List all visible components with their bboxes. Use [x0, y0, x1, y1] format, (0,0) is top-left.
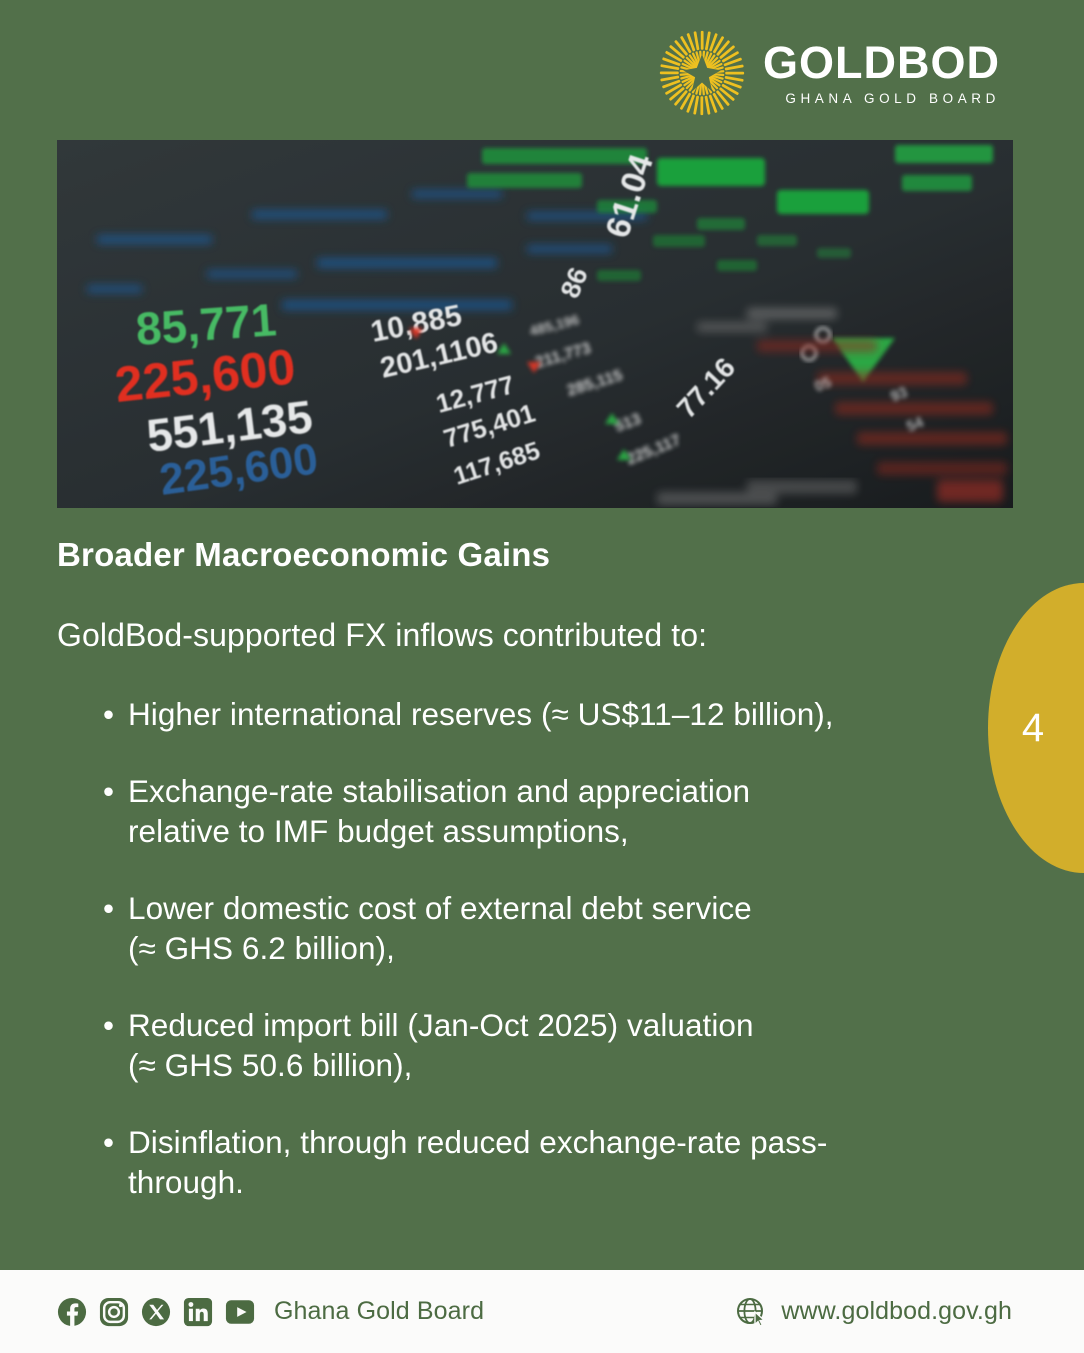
list-item-line: (≈ GHS 6.2 billion), [128, 928, 995, 968]
goldbod-logo: GOLDBOD GHANA GOLD BOARD [659, 30, 1000, 116]
footer-brand-handle: Ghana Gold Board [274, 1297, 484, 1326]
page-number: 4 [1022, 708, 1044, 748]
footer: Ghana Gold Board www.goldbod.gov.gh [0, 1270, 1084, 1353]
list-item-line: Exchange-rate stabilisation and apprecia… [128, 771, 995, 811]
list-item-line: (≈ GHS 50.6 billion), [128, 1045, 995, 1085]
linkedin-icon[interactable] [183, 1297, 213, 1327]
logo-subtitle: GHANA GOLD BOARD [763, 92, 1000, 106]
list-item: • Lower domestic cost of external debt s… [100, 888, 995, 968]
bullet-marker: • [103, 1122, 114, 1162]
list-item: • Disinflation, through reduced exchange… [100, 1122, 995, 1202]
instagram-icon[interactable] [99, 1297, 129, 1327]
list-item-line: through. [128, 1162, 995, 1202]
list-item: • Reduced import bill (Jan-Oct 2025) val… [100, 1005, 995, 1085]
list-item: • Higher international reserves (≈ US$11… [100, 694, 995, 734]
page-title: Broader Macroeconomic Gains [57, 536, 550, 574]
bullet-marker: • [103, 694, 114, 734]
poster-card: GOLDBOD GHANA GOLD BOARD [0, 0, 1084, 1353]
globe-cursor-icon [735, 1296, 767, 1328]
intro-text: GoldBod-supported FX inflows contributed… [57, 617, 707, 654]
list-item-line: Disinflation, through reduced exchange-r… [128, 1122, 995, 1162]
bullet-marker: • [103, 888, 114, 928]
sunburst-icon [659, 30, 745, 116]
bullet-marker: • [103, 1005, 114, 1045]
page-number-badge: 4 [988, 583, 1084, 873]
list-item-line: Lower domestic cost of external debt ser… [128, 888, 995, 928]
hero-ticker-image: 85,771 225,600 551,135 225,600 61.04 10,… [57, 140, 1013, 508]
list-item: • Exchange-rate stabilisation and apprec… [100, 771, 995, 851]
bullet-marker: • [103, 771, 114, 811]
footer-website-group[interactable]: www.goldbod.gov.gh [735, 1296, 1012, 1328]
list-item-line: Higher international reserves (≈ US$11–1… [128, 694, 995, 734]
facebook-icon[interactable] [57, 1297, 87, 1327]
logo-wordmark: GOLDBOD [763, 41, 1000, 85]
header: GOLDBOD GHANA GOLD BOARD [0, 0, 1084, 140]
x-twitter-icon[interactable] [141, 1297, 171, 1327]
list-item-line: relative to IMF budget assumptions, [128, 811, 995, 851]
youtube-icon[interactable] [225, 1297, 255, 1327]
gains-bullet-list: • Higher international reserves (≈ US$11… [100, 694, 995, 1202]
footer-website-url[interactable]: www.goldbod.gov.gh [781, 1297, 1012, 1326]
list-item-line: Reduced import bill (Jan-Oct 2025) valua… [128, 1005, 995, 1045]
footer-social-group: Ghana Gold Board [57, 1297, 484, 1327]
